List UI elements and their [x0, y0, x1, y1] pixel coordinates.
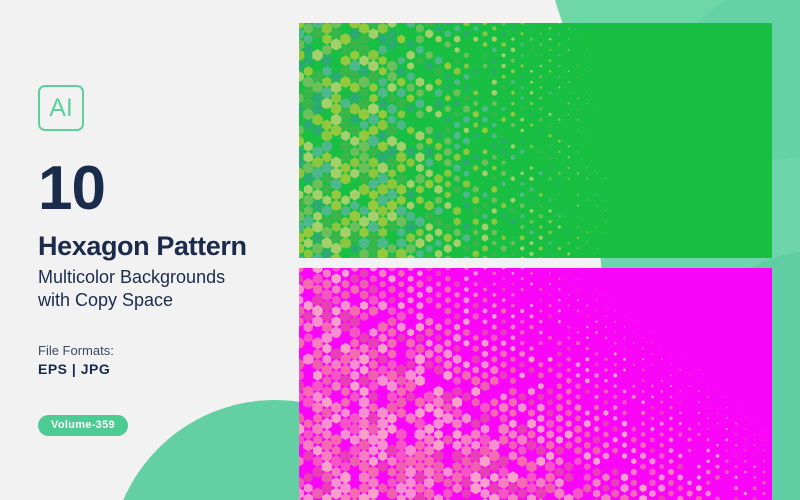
ai-logo: AI [38, 85, 84, 131]
ai-logo-label: AI [49, 96, 73, 121]
page-subtitle: Multicolor Backgroundswith Copy Space [38, 266, 288, 312]
item-count: 10 [38, 158, 105, 220]
info-column: AI 10 Hexagon Pattern Multicolor Backgro… [38, 0, 288, 500]
magenta-hexagon-pattern-svg [299, 268, 772, 500]
poster-canvas: AI 10 Hexagon Pattern Multicolor Backgro… [0, 0, 800, 500]
file-formats-value: EPS | JPG [38, 361, 110, 377]
green-hexagon-pattern-panel [299, 23, 772, 258]
page-title: Hexagon Pattern [38, 232, 247, 261]
green-hexagon-pattern-svg [299, 23, 772, 258]
magenta-hexagon-pattern-panel [299, 268, 772, 500]
volume-badge: Volume-359 [38, 415, 128, 436]
file-formats-label: File Formats: [38, 343, 114, 358]
